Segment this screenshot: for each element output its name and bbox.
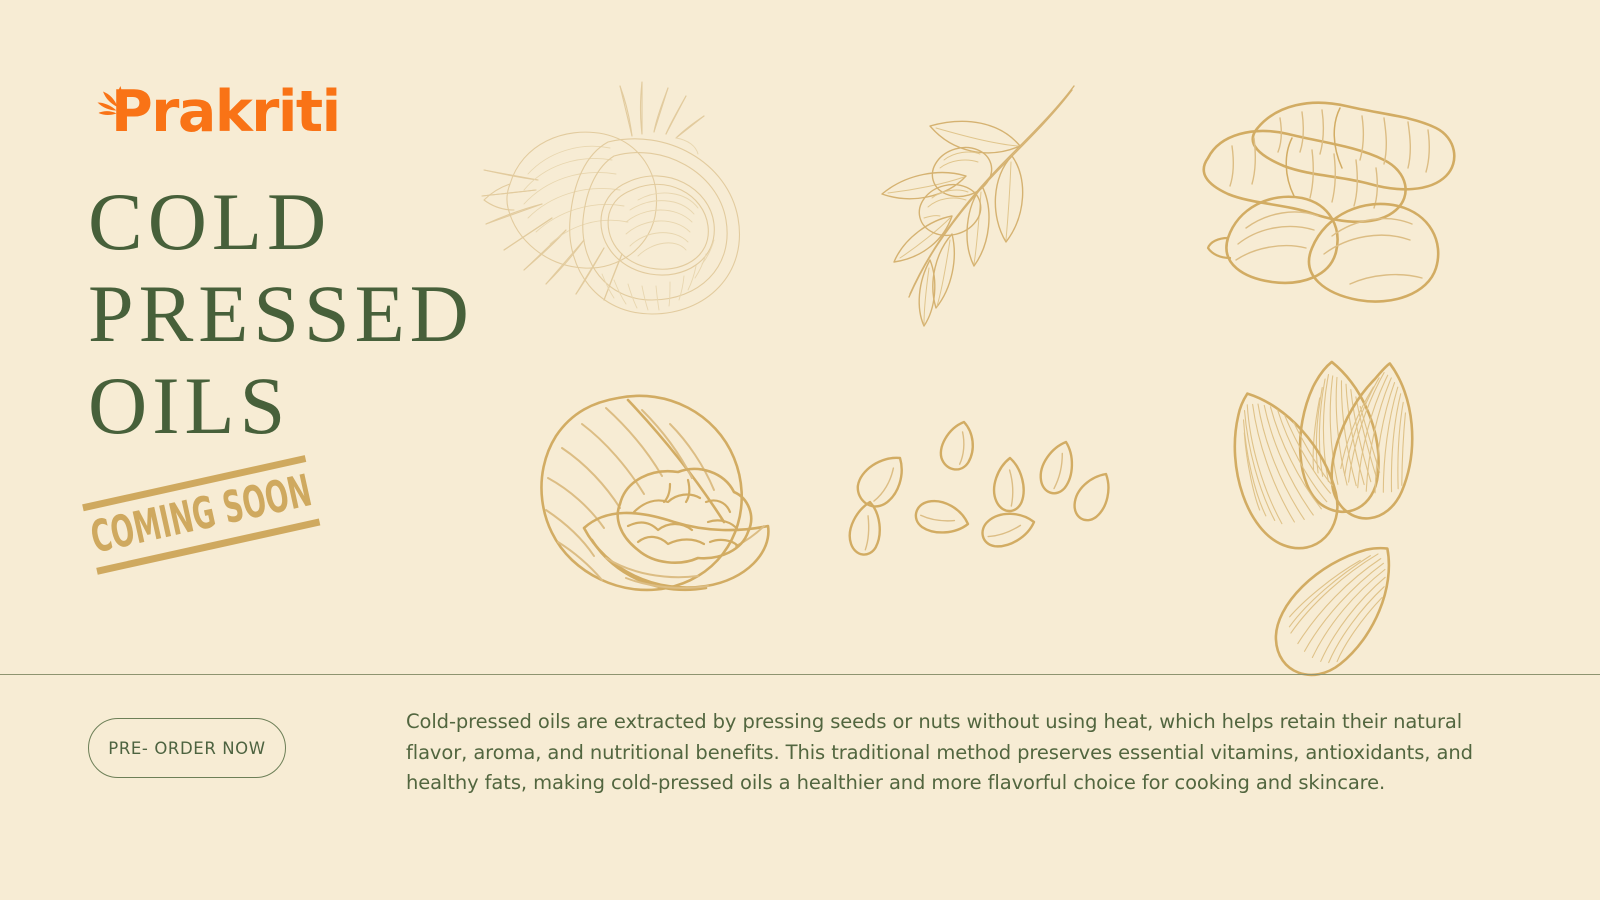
headline-line-3: OILS [88,360,518,452]
poster-canvas: Prakriti COLD PRESSED OILS COMING SOON [0,0,1600,900]
coconut-illustration [480,78,780,328]
walnut-illustration [510,380,780,600]
brand-name: Prakriti [111,84,340,141]
peanut-illustration [1160,88,1460,288]
product-description: Cold-pressed oils are extracted by press… [406,707,1491,799]
olive-branch-illustration [860,76,1090,326]
headline-line-2: PRESSED [88,268,518,360]
almond-illustration [1180,355,1470,605]
hero-section: Prakriti COLD PRESSED OILS COMING SOON [0,0,1600,674]
coming-soon-stamp: COMING SOON [88,478,326,596]
illustration-grid [460,60,1520,620]
headline-line-1: COLD [88,176,518,268]
page-title: COLD PRESSED OILS [88,176,518,452]
pre-order-now-button[interactable]: PRE- ORDER NOW [88,718,286,778]
seeds-illustration [860,410,1110,570]
footer-section: PRE- ORDER NOW Cold-pressed oils are ext… [0,675,1600,900]
